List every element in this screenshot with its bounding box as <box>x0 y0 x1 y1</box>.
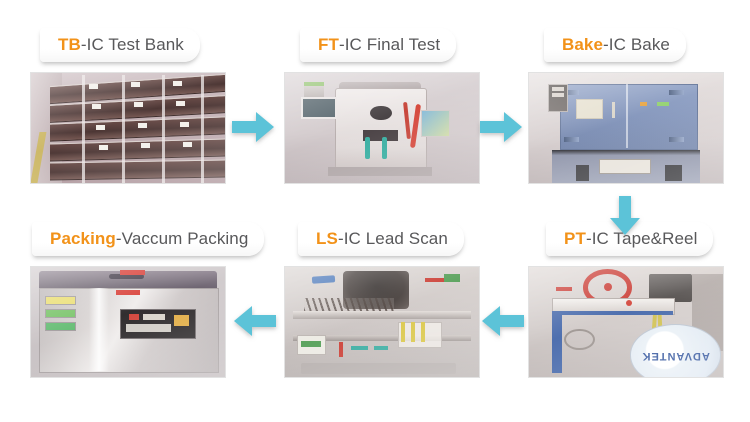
stage-code-ft: FT <box>318 35 339 54</box>
photo-ic-bake <box>529 73 723 183</box>
stage-code-packing: Packing <box>50 229 116 248</box>
photo-vaccum-packing <box>31 267 225 377</box>
arrow-tb-to-ft <box>232 110 276 144</box>
stage-photo-ls <box>284 266 480 378</box>
photo-ic-test-bank <box>31 73 225 183</box>
stage-pt: PT-IC Tape&Reel ADVANTEK <box>522 222 738 397</box>
process-flow-diagram: TB-IC Test Bank <box>0 0 750 422</box>
stage-photo-ft <box>284 72 480 184</box>
arrow-pt-to-ls <box>480 304 524 338</box>
stage-photo-bake <box>528 72 724 184</box>
arrow-bake-to-pt <box>608 196 642 236</box>
stage-tb: TB-IC Test Bank <box>22 28 238 203</box>
stage-code-bake: Bake <box>562 35 603 54</box>
stage-photo-tb <box>30 72 226 184</box>
stage-label-bake: Bake-IC Bake <box>544 28 686 62</box>
stage-title-tb: -IC Test Bank <box>81 35 184 54</box>
stage-code-tb: TB <box>58 35 81 54</box>
stage-bake: Bake-IC Bake <box>522 28 738 203</box>
stage-title-ft: -IC Final Test <box>339 35 440 54</box>
photo-ic-lead-scan <box>285 267 479 377</box>
stage-title-packing: -Vaccum Packing <box>116 229 249 248</box>
photo-ic-tape-and-reel: ADVANTEK <box>529 267 723 377</box>
stage-packing: Packing-Vaccum Packing <box>22 222 238 397</box>
stage-title-bake: -IC Bake <box>603 35 670 54</box>
stage-ls: LS-IC Lead Scan <box>278 222 494 397</box>
arrow-ft-to-bake <box>480 110 524 144</box>
stage-label-tb: TB-IC Test Bank <box>40 28 200 62</box>
stage-photo-pt: ADVANTEK <box>528 266 724 378</box>
stage-code-pt: PT <box>564 229 586 248</box>
stage-ft: FT-IC Final Test <box>278 28 494 203</box>
stage-code-ls: LS <box>316 229 338 248</box>
photo-ic-final-test <box>285 73 479 183</box>
stage-title-ls: -IC Lead Scan <box>338 229 448 248</box>
stage-label-ft: FT-IC Final Test <box>300 28 456 62</box>
stage-photo-packing <box>30 266 226 378</box>
stage-label-ls: LS-IC Lead Scan <box>298 222 464 256</box>
reel-brand-text: ADVANTEK <box>640 350 711 362</box>
stage-label-packing: Packing-Vaccum Packing <box>32 222 264 256</box>
arrow-ls-to-packing <box>232 304 276 338</box>
